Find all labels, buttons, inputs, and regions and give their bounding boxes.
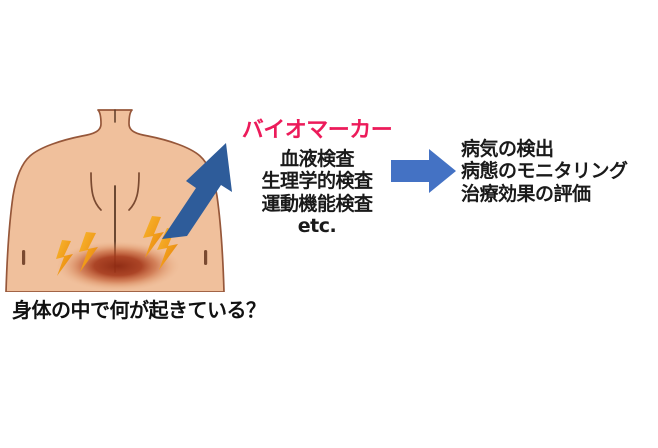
left-elbow-crease: [22, 250, 25, 265]
test-item-motor: 運動機能検査: [232, 193, 402, 215]
right-elbow-crease: [204, 250, 207, 265]
test-item-etc: etc.: [232, 215, 402, 237]
outcome-item-evaluation: 治療効果の評価: [461, 183, 628, 205]
outcome-item-detection: 病気の検出: [461, 138, 628, 160]
diagram-canvas: バイオマーカー 血液検査 生理学的検査 運動機能検査 etc. 病気の検出 病態…: [0, 0, 658, 448]
test-item-physiologic: 生理学的検査: [232, 170, 402, 192]
biomarker-title: バイオマーカー: [237, 118, 397, 144]
biomarker-test-list: 血液検査 生理学的検査 運動機能検査 etc.: [232, 148, 402, 238]
test-item-blood: 血液検査: [232, 148, 402, 170]
outcome-item-monitoring: 病態のモニタリング: [461, 160, 628, 182]
outcome-list: 病気の検出 病態のモニタリング 治療効果の評価: [461, 138, 628, 205]
question-caption: 身体の中で何が起きている？: [12, 299, 266, 323]
